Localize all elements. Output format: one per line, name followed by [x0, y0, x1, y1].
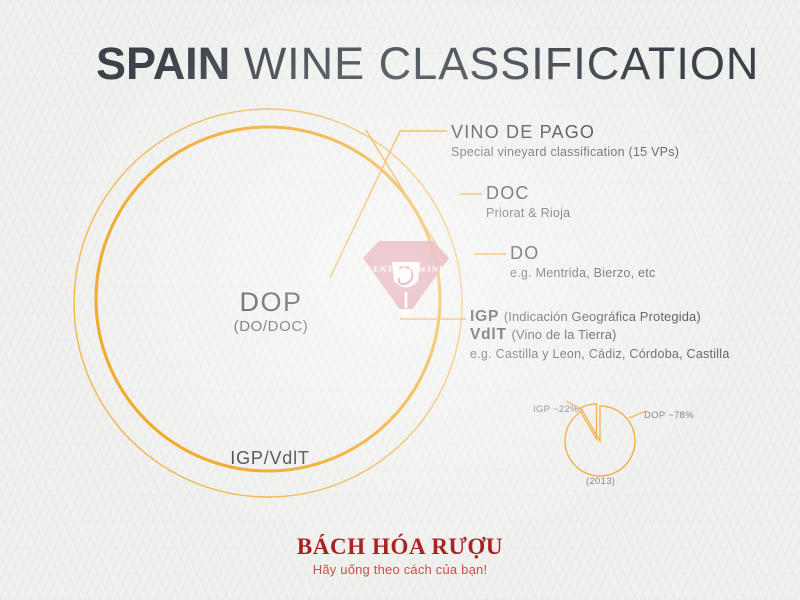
- callout-vdlt-abbr: VdlT: [470, 326, 507, 343]
- pie-year-label: (2013): [586, 476, 615, 487]
- emblem-label: CENTRAL WINE: [348, 264, 464, 274]
- callout-igp-vdlt-sub: e.g. Castilla y Leon, Cádiz, Córdoba, Ca…: [470, 347, 730, 363]
- emblem-text-layer: CENTRAL WINE: [348, 240, 464, 358]
- pie-label-igp: IGP ~22%: [533, 404, 579, 415]
- callout-vdlt-line: VdlT (Vino de la Tierra): [470, 326, 730, 344]
- callout-vdlt-full: (Vino de la Tierra): [512, 327, 617, 342]
- callout-igp-full: (Indicación Geográfica Protegida): [504, 309, 701, 324]
- callout-doc: DOC Priorat & Rioja: [486, 183, 570, 221]
- callout-igp-vdlt: IGP (Indicación Geográfica Protegida) Vd…: [470, 308, 730, 362]
- callout-do-sub: e.g. Mentrida, Bierzo, etc: [510, 266, 655, 282]
- dop-ring-subtitle: (DO/DOC): [196, 318, 346, 335]
- callout-doc-sub: Priorat & Rioja: [486, 206, 570, 222]
- igp-ring-label: IGP/VdlT: [200, 448, 340, 469]
- dop-ring-label: DOP (DO/DOC): [196, 288, 346, 335]
- callout-do-head: DO: [510, 243, 655, 264]
- callout-igp-line: IGP (Indicación Geográfica Protegida): [470, 308, 730, 326]
- callout-doc-head: DOC: [486, 183, 570, 204]
- callout-vino-de-pago: VINO DE PAGO Special vineyard classifica…: [451, 122, 679, 160]
- brand-footer: BÁCH HÓA RƯỢU Hãy uống theo cách của bạn…: [0, 534, 800, 577]
- callout-igp-abbr: IGP: [470, 308, 499, 325]
- callout-vino-de-pago-sub: Special vineyard classification (15 VPs): [451, 145, 679, 161]
- callout-vino-de-pago-head: VINO DE PAGO: [451, 122, 679, 143]
- pie-label-dop: DOP ~78%: [644, 410, 694, 421]
- dop-ring-title: DOP: [196, 288, 346, 316]
- callout-do: DO e.g. Mentrida, Bierzo, etc: [510, 243, 655, 281]
- pie-chart-labels: IGP ~22% DOP ~78% (2013): [512, 392, 722, 492]
- brand-tagline: Hãy uống theo cách của bạn!: [0, 562, 800, 577]
- brand-name: BÁCH HÓA RƯỢU: [0, 534, 800, 559]
- infographic-canvas: SPAIN WINE CLASSIFICATION: [0, 0, 800, 600]
